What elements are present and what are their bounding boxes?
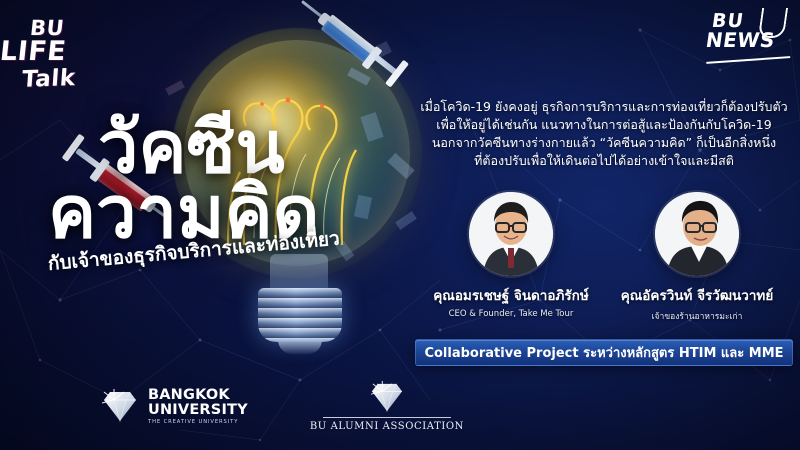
bangkok-university-logo[interactable]: BANGKOK UNIVERSITY THE CREATIVE UNIVERSI…: [100, 388, 248, 425]
description-line: เพื่อให้อยู่ได้เช่นกัน แนวทางในการต่อสู้…: [415, 116, 793, 134]
bulb-metal-base: [258, 288, 342, 342]
footer-logos: BANGKOK UNIVERSITY THE CREATIVE UNIVERSI…: [100, 381, 464, 432]
speaker-name: คุณอัครวินท์ จีรวัฒนวาทย์: [617, 284, 777, 306]
right-content-column: เมื่อโควิด-19 ยังคงอยู่ ธุรกิจการบริการแ…: [415, 98, 793, 366]
logo-text-life: LIFE: [0, 38, 68, 65]
promo-poster: BU LIFE Talk BU NEWS วัคซีน ความคิด กับเ…: [0, 0, 800, 450]
speaker-card: คุณอัครวินท์ จีรวัฒนวาทย์ เจ้าของร้านอาห…: [617, 192, 777, 323]
logo-text-talk: Talk: [21, 67, 76, 92]
description-line: นอกจากวัคซีนทางร่างกายแล้ว “วัคซีนความคิ…: [415, 134, 793, 152]
bu-alumni-association-logo[interactable]: BU ALUMNI ASSOCIATION: [310, 381, 464, 432]
speaker-role: CEO & Founder, Take Me Tour: [431, 309, 591, 319]
speakers-list: คุณอมรเชษฐ์ จินดาอภิรักษ์ CEO & Founder,…: [415, 192, 793, 323]
description-paragraph: เมื่อโควิด-19 ยังคงอยู่ ธุรกิจการบริการแ…: [415, 98, 793, 170]
news-logo-text-news: NEWS: [704, 28, 776, 52]
bulb-base-tip: [278, 338, 322, 354]
avatar: [469, 192, 553, 276]
diamond-icon: [100, 389, 140, 423]
description-line: ที่ต้องปรับเพื่อให้เดินต่อไปได้อย่างเข้า…: [415, 152, 793, 170]
diamond-icon: [368, 381, 406, 413]
university-name-line-1: BANGKOK: [148, 388, 248, 403]
divider: [323, 417, 451, 418]
university-name-line-2: UNIVERSITY: [148, 403, 248, 418]
speaker-role: เจ้าของร้านอาหารมะเก่า: [617, 309, 777, 323]
collaborative-project-banner: Collaborative Project ระหว่างหลักสูตร HT…: [415, 339, 793, 366]
banner-text: Collaborative Project ระหว่างหลักสูตร HT…: [424, 342, 783, 363]
speaker-name: คุณอมรเชษฐ์ จินดาอภิรักษ์: [431, 284, 591, 306]
bu-life-talk-logo[interactable]: BU LIFE Talk: [4, 18, 96, 104]
avatar: [655, 192, 739, 276]
university-tagline: THE CREATIVE UNIVERSITY: [148, 420, 248, 425]
headline-block: วัคซีน ความคิด กับเจ้าของธุรกิจบริการและ…: [20, 112, 420, 279]
bu-news-logo[interactable]: BU NEWS: [706, 8, 790, 60]
alumni-association-text: BU ALUMNI ASSOCIATION: [310, 421, 464, 432]
description-line: เมื่อโควิด-19 ยังคงอยู่ ธุรกิจการบริการแ…: [415, 98, 793, 116]
bangkok-university-text: BANGKOK UNIVERSITY THE CREATIVE UNIVERSI…: [148, 388, 248, 425]
speaker-card: คุณอมรเชษฐ์ จินดาอภิรักษ์ CEO & Founder,…: [431, 192, 591, 323]
